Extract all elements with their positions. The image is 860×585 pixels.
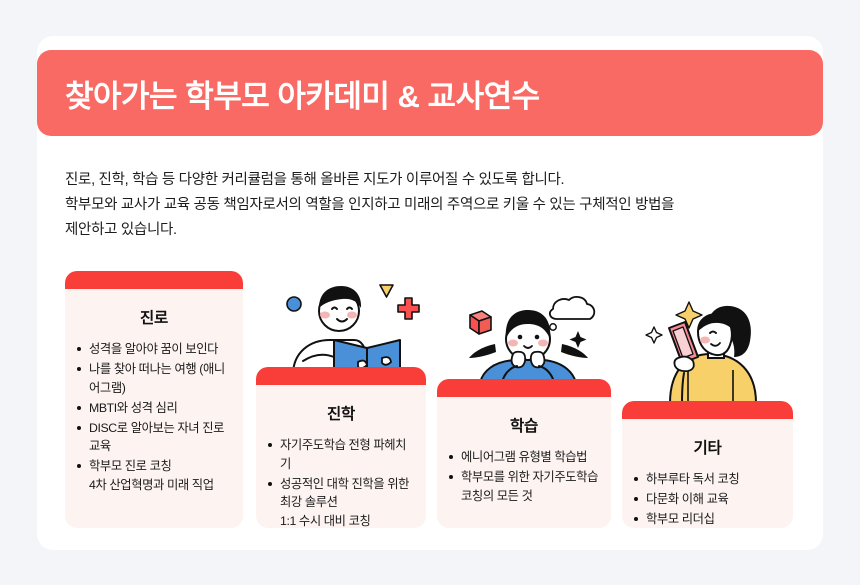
card-title: 진로 — [65, 306, 243, 328]
curriculum-card-career[interactable]: 진로 성격을 알아야 꿈이 보인다 나를 찾아 떠나는 여행 (애니어그램) M… — [65, 271, 243, 528]
description-line-2: 학부모와 교사가 교육 공동 책임자로서의 역할을 인지하고 미래의 주역으로 … — [65, 193, 805, 218]
bullet-icon — [268, 482, 272, 486]
list-item: 학부모를 위한 자기주도학습 코칭의 모든 것 — [461, 468, 601, 505]
list-item: 에니어그램 유형별 학습법 — [461, 448, 601, 467]
woman-with-phone-illustration — [632, 300, 787, 409]
bullet-icon — [634, 497, 638, 501]
card-item-list: 자기주도학습 전형 파헤치기 성공적인 대학 진학을 위한 최강 솔루션1:1 … — [256, 436, 426, 528]
card-header-bar — [437, 379, 611, 397]
bullet-icon — [634, 517, 638, 521]
card-header-bar — [622, 401, 793, 419]
curriculum-card-admission[interactable]: 진학 자기주도학습 전형 파헤치기 성공적인 대학 진학을 위한 최강 솔루션1… — [256, 367, 426, 528]
list-item: 자기주도학습 전형 파헤치기 — [280, 436, 416, 473]
list-item: 성공적인 대학 진학을 위한 최강 솔루션1:1 수시 대비 코칭 — [280, 475, 416, 529]
description-paragraph: 진로, 진학, 학습 등 다양한 커리큘럼을 통해 올바른 지도가 이루어질 수… — [65, 168, 805, 243]
list-item-text: MBTI와 성격 심리 — [89, 401, 177, 415]
card-item-list: 하부루타 독서 코칭 다문화 이해 교육 학부모 리더십 — [622, 470, 793, 528]
bullet-icon — [449, 455, 453, 459]
list-item-subtext: 4차 산업혁명과 미래 직업 — [89, 476, 233, 495]
bullet-icon — [634, 477, 638, 481]
description-line-1: 진로, 진학, 학습 등 다양한 커리큘럼을 통해 올바른 지도가 이루어질 수… — [65, 168, 805, 193]
infographic-page: 찾아가는 학부모 아카데미 & 교사연수 진로, 진학, 학습 등 다양한 커리… — [0, 0, 860, 585]
bullet-icon — [77, 367, 81, 371]
list-item: 학부모 진로 코칭4차 산업혁명과 미래 직업 — [89, 457, 233, 494]
list-item-text: 에니어그램 유형별 학습법 — [461, 450, 587, 464]
bullet-icon — [77, 347, 81, 351]
description-line-3: 제안하고 있습니다. — [65, 218, 805, 243]
list-item: DISC로 알아보는 자녀 진로 교육 — [89, 419, 233, 456]
card-title: 진학 — [256, 402, 426, 424]
curriculum-card-etc[interactable]: 기타 하부루타 독서 코칭 다문화 이해 교육 학부모 리더십 — [622, 401, 793, 528]
bullet-icon — [77, 464, 81, 468]
list-item-text: 성공적인 대학 진학을 위한 최강 솔루션 — [280, 477, 409, 510]
list-item: MBTI와 성격 심리 — [89, 399, 233, 418]
bullet-icon — [268, 443, 272, 447]
list-item: 성격을 알아야 꿈이 보인다 — [89, 340, 233, 359]
card-header-bar — [65, 271, 243, 289]
list-item: 다문화 이해 교육 — [646, 490, 783, 509]
curriculum-card-learning[interactable]: 학습 에니어그램 유형별 학습법 학부모를 위한 자기주도학습 코칭의 모든 것 — [437, 379, 611, 528]
list-item-text: 자기주도학습 전형 파헤치기 — [280, 438, 406, 471]
list-item-text: DISC로 알아보는 자녀 진로 교육 — [89, 421, 224, 454]
list-item-text: 하부루타 독서 코칭 — [646, 472, 739, 486]
list-item-text: 나를 찾아 떠나는 여행 (애니어그램) — [89, 362, 225, 395]
list-item-text: 다문화 이해 교육 — [646, 492, 728, 506]
card-item-list: 성격을 알아야 꿈이 보인다 나를 찾아 떠나는 여행 (애니어그램) MBTI… — [65, 340, 243, 494]
list-item-text: 학부모 진로 코칭 — [89, 459, 171, 473]
list-item: 학부모 리더십 — [646, 510, 783, 528]
list-item-text: 성격을 알아야 꿈이 보인다 — [89, 342, 218, 356]
bullet-icon — [77, 406, 81, 410]
header-banner: 찾아가는 학부모 아카데미 & 교사연수 — [37, 50, 823, 136]
page-title: 찾아가는 학부모 아카데미 & 교사연수 — [65, 71, 540, 116]
card-title: 기타 — [622, 436, 793, 458]
list-item: 하부루타 독서 코칭 — [646, 470, 783, 489]
card-header-bar — [256, 367, 426, 385]
bullet-icon — [77, 426, 81, 430]
list-item-text: 학부모를 위한 자기주도학습 코칭의 모든 것 — [461, 470, 598, 503]
card-item-list: 에니어그램 유형별 학습법 학부모를 위한 자기주도학습 코칭의 모든 것 — [437, 448, 611, 505]
list-item: 나를 찾아 떠나는 여행 (애니어그램) — [89, 360, 233, 397]
bullet-icon — [449, 475, 453, 479]
card-title: 학습 — [437, 414, 611, 436]
list-item-subtext: 1:1 수시 대비 코칭 — [280, 512, 416, 529]
list-item-text: 학부모 리더십 — [646, 512, 715, 526]
